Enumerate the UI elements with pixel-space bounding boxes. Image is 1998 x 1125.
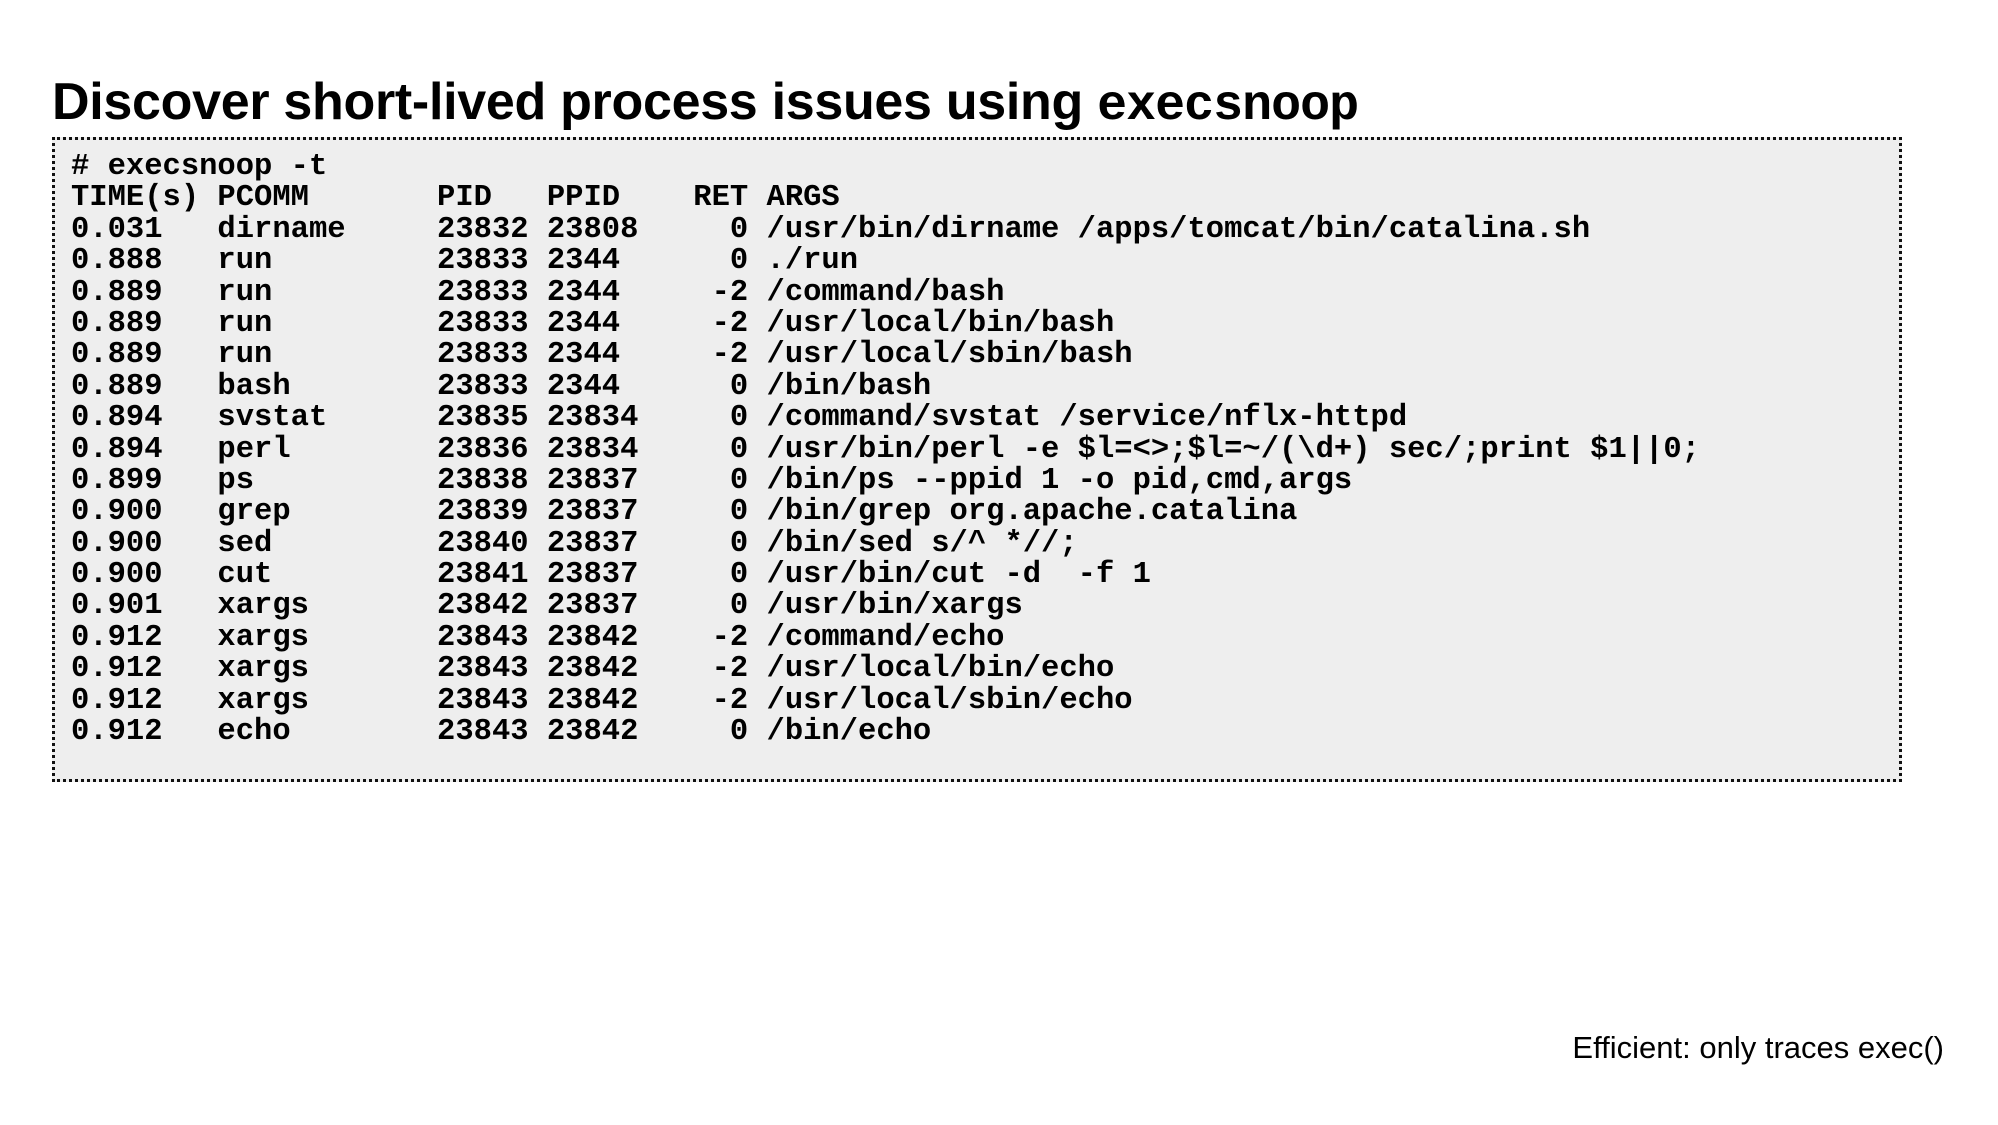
terminal-row: 0.900 sed 23840 23837 0 /bin/sed s/^ *//…: [71, 529, 1899, 560]
terminal-command-line: # execsnoop -t: [71, 152, 1899, 183]
terminal-listing: # execsnoop -tTIME(s) PCOMM PID PPID RET…: [71, 152, 1899, 782]
terminal-row: [71, 748, 1899, 779]
terminal-row: 0.888 run 23833 2344 0 ./run: [71, 246, 1899, 277]
terminal-row: 0.889 run 23833 2344 -2 /usr/local/sbin/…: [71, 340, 1899, 371]
terminal-row: 0.912 echo 23843 23842 0 /bin/echo: [71, 717, 1899, 748]
terminal-row: 0.889 bash 23833 2344 0 /bin/bash: [71, 372, 1899, 403]
page-title-prefix: Discover short-lived process issues usin…: [52, 73, 1097, 131]
terminal-row: 0.900 cut 23841 23837 0 /usr/bin/cut -d …: [71, 560, 1899, 591]
terminal-code-block: # execsnoop -tTIME(s) PCOMM PID PPID RET…: [52, 137, 1902, 782]
terminal-row: 0.912 xargs 23843 23842 -2 /command/echo: [71, 623, 1899, 654]
terminal-row: 0.900 grep 23839 23837 0 /bin/grep org.a…: [71, 497, 1899, 528]
terminal-truncation-marker: [...]: [71, 780, 1899, 782]
terminal-row: 0.889 run 23833 2344 -2 /usr/local/bin/b…: [71, 309, 1899, 340]
terminal-row: 0.899 ps 23838 23837 0 /bin/ps --ppid 1 …: [71, 466, 1899, 497]
terminal-row: 0.894 perl 23836 23834 0 /usr/bin/perl -…: [71, 435, 1899, 466]
slide-canvas: Discover short-lived process issues usin…: [0, 0, 1998, 1125]
terminal-row: 0.031 dirname 23832 23808 0 /usr/bin/dir…: [71, 215, 1899, 246]
page-title: Discover short-lived process issues usin…: [52, 73, 1932, 136]
page-title-command: execsnoop: [1097, 78, 1358, 135]
terminal-header-row: TIME(s) PCOMM PID PPID RET ARGS: [71, 183, 1899, 214]
terminal-row: 0.912 xargs 23843 23842 -2 /usr/local/bi…: [71, 654, 1899, 685]
terminal-row: 0.889 run 23833 2344 -2 /command/bash: [71, 278, 1899, 309]
terminal-row: 0.894 svstat 23835 23834 0 /command/svst…: [71, 403, 1899, 434]
terminal-row: 0.912 xargs 23843 23842 -2 /usr/local/sb…: [71, 686, 1899, 717]
terminal-row: 0.901 xargs 23842 23837 0 /usr/bin/xargs: [71, 591, 1899, 622]
footer-note: Efficient: only traces exec(): [1572, 1030, 1944, 1066]
